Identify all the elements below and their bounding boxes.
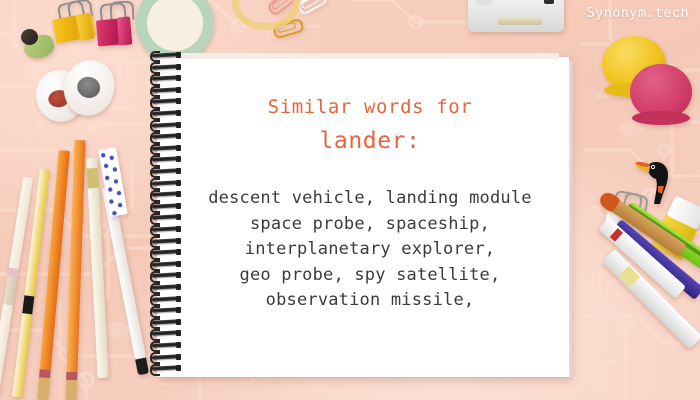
spiral-coil (150, 110, 181, 117)
brand-logo[interactable]: Synonym.tech (587, 5, 689, 21)
spiral-coil (150, 272, 181, 279)
spiral-coil (150, 342, 181, 349)
synonym-line: observation missile, (208, 288, 531, 314)
spiral-coil (150, 203, 181, 210)
spiral-coil (150, 354, 181, 361)
screenshot-root: Similar words for lander: descent vehicl… (0, 0, 700, 400)
spiral-coil (150, 284, 181, 291)
spiral-coil (150, 98, 181, 105)
spiral-coil (150, 133, 181, 140)
spiral-coil (150, 87, 181, 94)
spiral-coil (150, 156, 181, 163)
query-word: lander: (319, 128, 420, 154)
notebook-content: Similar words for lander: descent vehicl… (180, 57, 560, 377)
synonym-line: descent vehicle, landing module (208, 186, 531, 212)
notebook-page-edge (569, 60, 573, 377)
spiral-coil (150, 307, 181, 314)
notebook-spiral-binding (150, 52, 184, 382)
spiral-coil (150, 319, 181, 326)
synonym-list: descent vehicle, landing modulespace pro… (208, 186, 531, 314)
spiral-coil (150, 168, 181, 175)
spiral-coil (150, 214, 181, 221)
binder-clip-yellow-icon (52, 4, 98, 42)
synonym-line: geo probe, spy satellite, (208, 263, 531, 289)
spiral-coil (150, 296, 181, 303)
spiral-coil (150, 330, 181, 337)
synonym-line: space probe, spaceship, (208, 212, 531, 238)
spiral-coil (150, 226, 181, 233)
spiral-coil (150, 261, 181, 268)
avocado-charm-icon (22, 30, 56, 60)
synonym-line: interplanetary explorer, (208, 237, 531, 263)
spiral-coil (150, 238, 181, 245)
spiral-coil (150, 145, 181, 152)
spiral-coil (150, 180, 181, 187)
spiral-coil (150, 64, 181, 71)
spiral-coil (150, 249, 181, 256)
spiral-coil (150, 122, 181, 129)
spiral-coil (150, 365, 181, 372)
camera-icon (468, 0, 564, 38)
macaron-pink-icon (630, 64, 692, 120)
spiral-coil (150, 75, 181, 82)
heading-prefix: Similar words for (268, 96, 473, 118)
binder-clip-pink-icon (96, 8, 138, 46)
spiral-coil (150, 191, 181, 198)
spiral-coil (150, 52, 181, 59)
